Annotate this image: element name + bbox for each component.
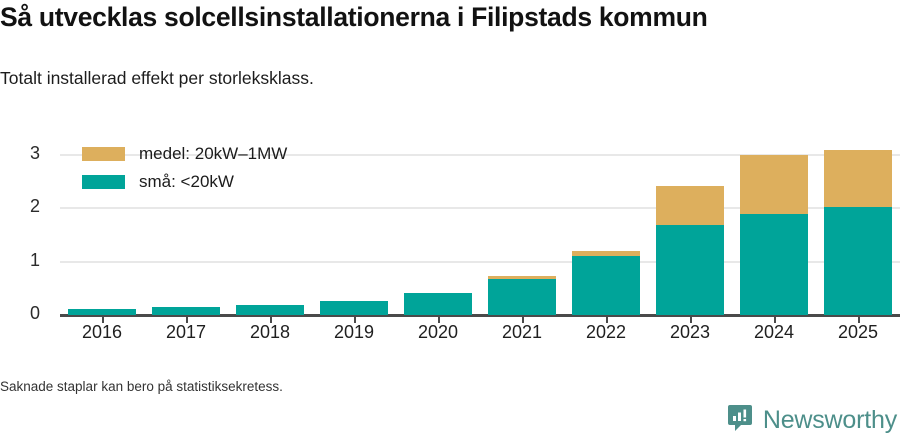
bar-segment-small-2022[interactable] [572, 256, 640, 315]
bar-segment-medium-2022[interactable] [572, 251, 640, 256]
x-axis-tick-label: 2018 [250, 322, 290, 343]
bar-segment-small-2017[interactable] [152, 307, 220, 315]
x-axis-tick-label: 2023 [670, 322, 710, 343]
x-axis-labels: 2016201720182019202020212022202320242025 [60, 322, 900, 350]
legend-label-sma: små: <20kW [139, 172, 234, 192]
bar-segment-medium-2024[interactable] [740, 155, 808, 214]
legend-label-medel: medel: 20kW–1MW [139, 144, 287, 164]
y-axis-tick-label: 3 [0, 143, 40, 164]
bar-stack-2020[interactable] [404, 293, 472, 315]
bar-stack-2019[interactable] [320, 301, 388, 315]
y-axis-tick-label: 2 [0, 196, 40, 217]
brand-logo[interactable]: Newsworthy [728, 404, 897, 436]
bar-segment-small-2018[interactable] [236, 305, 304, 315]
bar-stack-2017[interactable] [152, 307, 220, 315]
bar-segment-medium-2021[interactable] [488, 276, 556, 279]
x-axis-tick-label: 2017 [166, 322, 206, 343]
bar-segment-small-2021[interactable] [488, 279, 556, 315]
brand-name: Newsworthy [763, 406, 897, 435]
legend-swatch-sma [82, 175, 125, 189]
bar-stack-2025[interactable] [824, 150, 892, 315]
bar-segment-small-2025[interactable] [824, 207, 892, 315]
x-axis-tick-label: 2021 [502, 322, 542, 343]
bar-stack-2024[interactable] [740, 155, 808, 315]
bar-stack-2023[interactable] [656, 186, 724, 315]
y-axis-labels: 0123 [0, 140, 40, 315]
page-title: Så utvecklas solcellsinstallationerna i … [0, 2, 707, 33]
x-axis-tick-label: 2025 [838, 322, 878, 343]
bar-stack-2016[interactable] [68, 309, 136, 315]
legend-item-medel[interactable]: medel: 20kW–1MW [82, 141, 287, 166]
bar-stack-2018[interactable] [236, 305, 304, 315]
bar-segment-medium-2023[interactable] [656, 186, 724, 225]
bar-stack-2021[interactable] [488, 276, 556, 315]
footnote: Saknade staplar kan bero på statistiksek… [0, 379, 283, 394]
legend-swatch-medel [82, 147, 125, 161]
x-axis-tick-label: 2022 [586, 322, 626, 343]
bar-segment-small-2024[interactable] [740, 214, 808, 315]
chart-legend: medel: 20kW–1MW små: <20kW [82, 141, 287, 197]
bar-segment-small-2019[interactable] [320, 301, 388, 315]
page-subtitle: Totalt installerad effekt per storlekskl… [0, 68, 314, 89]
y-axis-tick-label: 0 [0, 303, 40, 324]
chart-page: Så utvecklas solcellsinstallationerna i … [0, 0, 900, 439]
bar-segment-small-2023[interactable] [656, 225, 724, 315]
x-axis-tick-label: 2020 [418, 322, 458, 343]
bar-stack-2022[interactable] [572, 251, 640, 315]
bar-segment-small-2016[interactable] [68, 309, 136, 315]
bar-segment-medium-2025[interactable] [824, 150, 892, 207]
y-axis-tick-label: 1 [0, 250, 40, 271]
bar-segment-small-2020[interactable] [404, 293, 472, 315]
x-axis-tick-label: 2019 [334, 322, 374, 343]
legend-item-sma[interactable]: små: <20kW [82, 169, 287, 194]
bar-chart-bubble-icon [728, 405, 755, 435]
x-axis-tick-label: 2024 [754, 322, 794, 343]
x-axis-tick-label: 2016 [82, 322, 122, 343]
